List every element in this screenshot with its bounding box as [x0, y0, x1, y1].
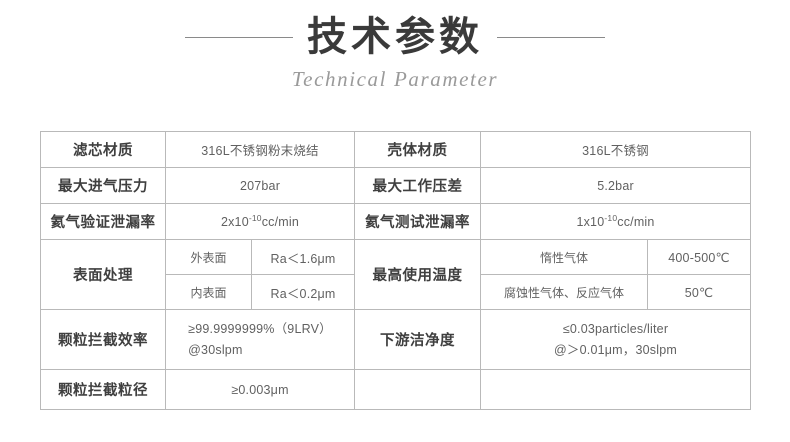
leak-rate-unit: cc/min — [262, 216, 299, 230]
sub-label-corrosive-reactive-gas: 腐蚀性气体、反应气体 — [481, 275, 648, 310]
table-row: 颗粒拦截效率 ≥99.9999999%（9LRV） @30slpm 下游洁净度 … — [41, 310, 751, 370]
row-label-particle-retention-efficiency: 颗粒拦截效率 — [41, 310, 166, 370]
sub-value-corrosive-reactive-gas-temp: 50℃ — [648, 275, 751, 310]
row-value-downstream-cleanliness: ≤0.03particles/liter @＞0.01μm，30slpm — [481, 310, 751, 370]
row-value-helium-verification-leak-rate: 2x10-10cc/min — [166, 204, 355, 240]
row-label-particle-retention-size: 颗粒拦截粒径 — [41, 370, 166, 410]
table-row: 氦气验证泄漏率 2x10-10cc/min 氦气测试泄漏率 1x10-10cc/… — [41, 204, 751, 240]
row-label-housing-material: 壳体材质 — [355, 132, 481, 168]
leak-rate-prefix: 1x10 — [576, 216, 604, 230]
leak-rate-unit: cc/min — [617, 216, 654, 230]
title-row: 技术参数 — [0, 14, 790, 61]
row-value-particle-retention-efficiency: ≥99.9999999%（9LRV） @30slpm — [166, 310, 355, 370]
table-row: 表面处理 外表面 Ra＜1.6μm 最高使用温度 惰性气体 400-500℃ — [41, 240, 751, 275]
sub-label-inner-surface: 内表面 — [166, 275, 252, 310]
row-label-downstream-cleanliness: 下游洁净度 — [355, 310, 481, 370]
leak-rate-prefix: 2x10 — [221, 216, 249, 230]
sub-value-inert-gas-temp: 400-500℃ — [648, 240, 751, 275]
row-label-helium-verification-leak-rate: 氦气验证泄漏率 — [41, 204, 166, 240]
page-subtitle: Technical Parameter — [0, 67, 790, 92]
row-value-empty — [481, 370, 751, 410]
sub-value-inner-surface: Ra＜0.2μm — [252, 275, 355, 310]
title-rule-left — [185, 37, 293, 38]
leak-rate-exponent: -10 — [604, 213, 617, 223]
particle-efficiency-line2: @30slpm — [188, 340, 332, 361]
row-value-helium-test-leak-rate: 1x10-10cc/min — [481, 204, 751, 240]
title-rule-right — [497, 37, 605, 38]
row-label-surface-treatment: 表面处理 — [41, 240, 166, 310]
row-label-empty — [355, 370, 481, 410]
sub-label-outer-surface: 外表面 — [166, 240, 252, 275]
downstream-cleanliness-text: ≤0.03particles/liter @＞0.01μm，30slpm — [554, 319, 677, 360]
page-header: 技术参数 Technical Parameter — [0, 14, 790, 92]
particle-efficiency-line1: ≥99.9999999%（9LRV） — [188, 319, 332, 340]
row-value-housing-material: 316L不锈钢 — [481, 132, 751, 168]
specification-table: 滤芯材质 316L不锈钢粉末烧结 壳体材质 316L不锈钢 最大进气压力 207… — [40, 131, 751, 410]
table-row: 最大进气压力 207bar 最大工作压差 5.2bar — [41, 168, 751, 204]
row-value-max-working-differential-pressure: 5.2bar — [481, 168, 751, 204]
row-value-filter-material: 316L不锈钢粉末烧结 — [166, 132, 355, 168]
table-row: 滤芯材质 316L不锈钢粉末烧结 壳体材质 316L不锈钢 — [41, 132, 751, 168]
row-label-max-operating-temperature: 最高使用温度 — [355, 240, 481, 310]
downstream-cleanliness-line1: ≤0.03particles/liter — [554, 319, 677, 340]
row-label-max-inlet-pressure: 最大进气压力 — [41, 168, 166, 204]
technical-parameter-page: 技术参数 Technical Parameter 滤芯材质 316L不锈钢粉末烧… — [0, 0, 790, 442]
downstream-cleanliness-line2: @＞0.01μm，30slpm — [554, 340, 677, 361]
row-value-max-inlet-pressure: 207bar — [166, 168, 355, 204]
table-row: 颗粒拦截粒径 ≥0.003μm — [41, 370, 751, 410]
sub-label-inert-gas: 惰性气体 — [481, 240, 648, 275]
leak-rate-exponent: -10 — [249, 213, 262, 223]
page-title: 技术参数 — [307, 14, 483, 61]
particle-efficiency-text: ≥99.9999999%（9LRV） @30slpm — [188, 319, 332, 360]
row-label-max-working-differential-pressure: 最大工作压差 — [355, 168, 481, 204]
row-label-filter-material: 滤芯材质 — [41, 132, 166, 168]
row-value-particle-retention-size: ≥0.003μm — [166, 370, 355, 410]
row-label-helium-test-leak-rate: 氦气测试泄漏率 — [355, 204, 481, 240]
sub-value-outer-surface: Ra＜1.6μm — [252, 240, 355, 275]
